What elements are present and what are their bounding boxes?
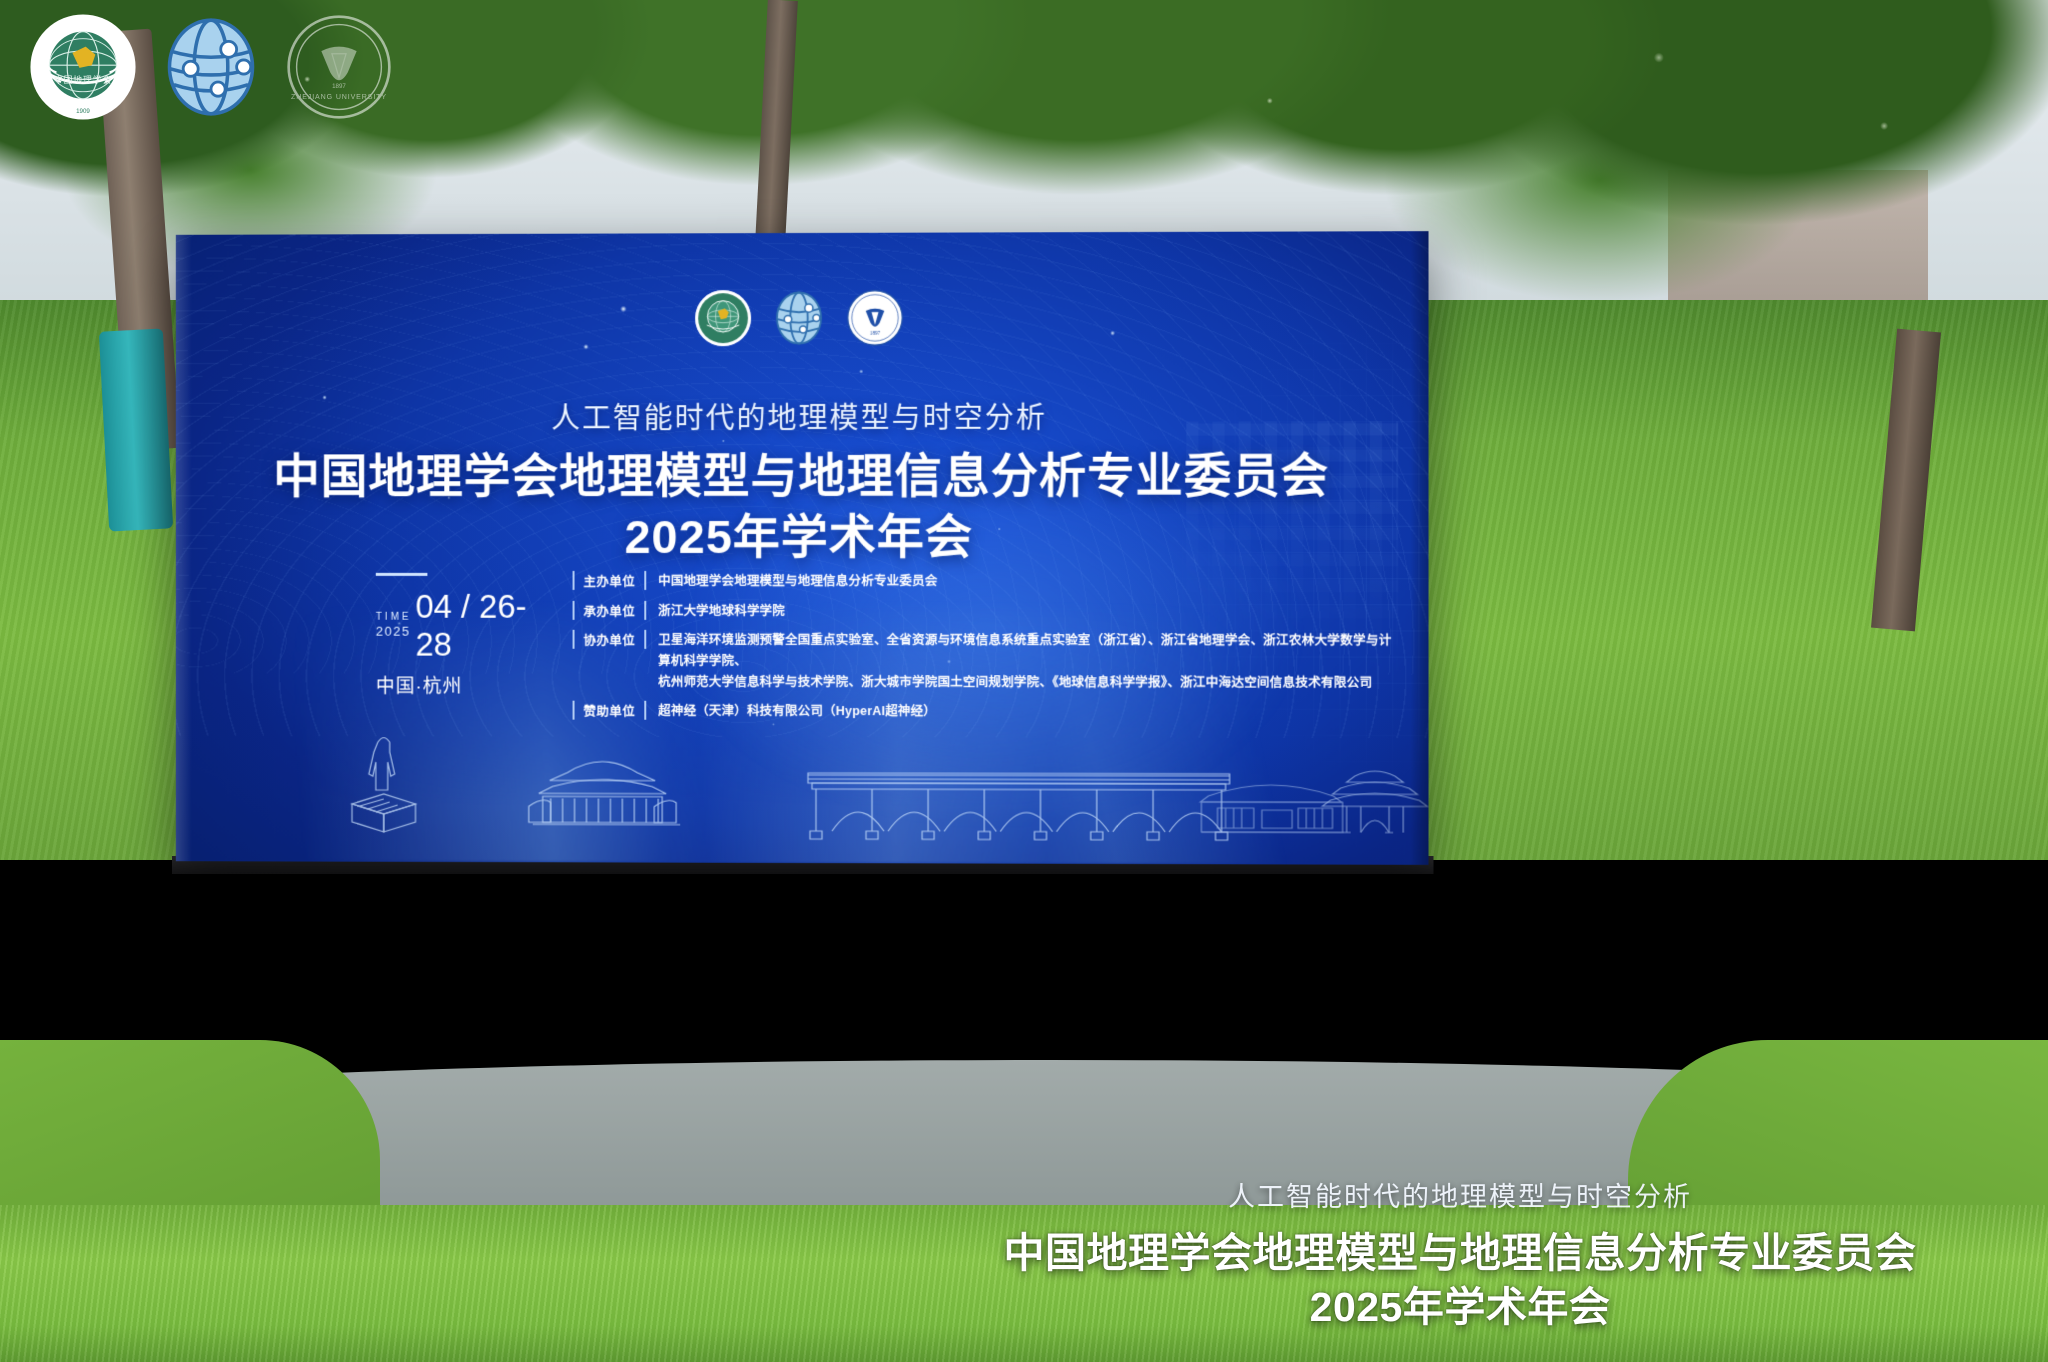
svg-text:1897: 1897 — [332, 83, 346, 90]
geographical-society-of-china-logo — [694, 289, 752, 347]
organizer-value: 中国地理学会地理模型与地理信息分析专业委员会 — [646, 571, 937, 592]
organizer-value: 浙江大学地球科学学院 — [646, 601, 785, 622]
organizer-row: 协办单位 卫星海洋环境监测预警全国重点实验室、全省资源与环境信息系统重点实验室（… — [573, 630, 1393, 693]
date-time-labels: TIME 2025 — [376, 611, 412, 640]
caption-title-line1: 中国地理学会地理模型与地理信息分析专业委员会 — [1004, 1230, 1917, 1276]
geographical-society-of-china-logo: 中国地理学会 1909 — [30, 14, 136, 120]
geo-network-globe-logo — [158, 14, 264, 120]
time-label: TIME — [376, 611, 412, 623]
board-title-line1: 中国地理学会地理模型与地理信息分析专业委员会 — [273, 449, 1329, 503]
board-logo-row: 1897 — [176, 287, 1429, 348]
statue-monument — [352, 738, 415, 832]
board-edge-highlight — [176, 235, 192, 861]
caption-subtitle: 人工智能时代的地理模型与时空分析 — [910, 1175, 2010, 1214]
organizer-row: 承办单位 浙江大学地球科学学院 — [573, 601, 1393, 622]
skyline-landmarks — [176, 702, 1429, 855]
zhejiang-university-logo: 1897 — [846, 289, 904, 347]
zhejiang-university-logo: ZHEJIANG UNIVERSITY 1897 — [286, 14, 392, 120]
arched-colonnade-bridge — [808, 773, 1230, 840]
tree-guard-left — [99, 328, 173, 531]
board-title: 中国地理学会地理模型与地理信息分析专业委员会 2025年学术年会 — [176, 444, 1429, 567]
organizer-label: 主办单位 — [573, 571, 647, 590]
board-subtitle: 人工智能时代的地理模型与时空分析 — [176, 394, 1429, 438]
caption-title-line2: 2025年学术年会 — [910, 1280, 2010, 1334]
organizer-row: 主办单位 中国地理学会地理模型与地理信息分析专业委员会 — [573, 571, 1393, 592]
corner-logo-row: 中国地理学会 1909 — [30, 14, 392, 120]
svg-text:ZHEJIANG UNIVERSITY: ZHEJIANG UNIVERSITY — [291, 94, 387, 101]
svg-text:1897: 1897 — [869, 331, 880, 337]
organizer-label: 协办单位 — [573, 630, 647, 649]
date-year: 2025 — [376, 624, 412, 640]
board-edge-shadow — [1410, 231, 1428, 865]
board-title-line2: 2025年学术年会 — [176, 506, 1429, 567]
date-rule — [376, 573, 428, 576]
conference-backdrop-board: 1897 人工智能时代的地理模型与时空分析 中国地理学会地理模型与地理信息分析专… — [176, 231, 1429, 865]
organizer-value: 卫星海洋环境监测预警全国重点实验室、全省资源与环境信息系统重点实验室（浙江省）、… — [646, 630, 1392, 693]
svg-text:中国地理学会: 中国地理学会 — [54, 74, 112, 85]
caption-title: 中国地理学会地理模型与地理信息分析专业委员会 2025年学术年会 — [910, 1226, 2010, 1334]
photo-caption: 人工智能时代的地理模型与时空分析 中国地理学会地理模型与地理信息分析专业委员会 … — [910, 1175, 2010, 1334]
organizer-value-part2: 杭州师范大学信息科学与技术学院、浙大城市学院国土空间规划学院、《地球信息科学学报… — [658, 671, 1392, 693]
photo-scene: 1897 人工智能时代的地理模型与时空分析 中国地理学会地理模型与地理信息分析专… — [0, 0, 2048, 1362]
date-range: 04 / 26-28 — [415, 588, 542, 664]
event-city: 中国·杭州 — [376, 672, 543, 699]
organizer-value-part1: 卫星海洋环境监测预警全国重点实验室、全省资源与环境信息系统重点实验室（浙江省）、… — [658, 633, 1391, 668]
geo-network-globe-logo — [770, 289, 828, 347]
traditional-hall — [529, 761, 680, 824]
organizer-label: 承办单位 — [573, 601, 647, 620]
event-date-block: TIME 2025 04 / 26-28 中国·杭州 — [376, 569, 543, 699]
svg-text:1909: 1909 — [76, 108, 90, 115]
